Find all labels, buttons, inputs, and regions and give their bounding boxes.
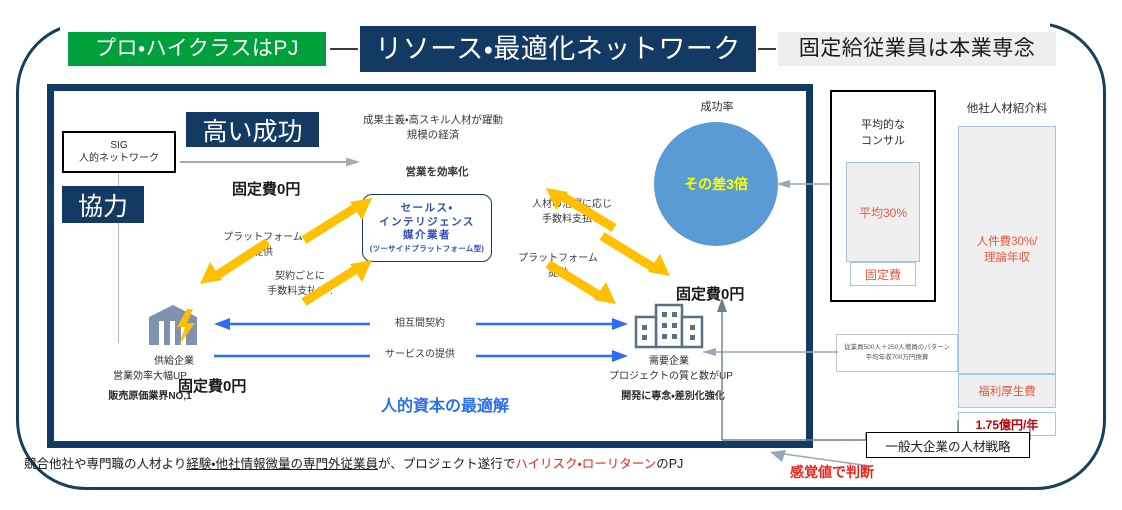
sig-label-line2: 人的ネットワーク <box>79 152 159 166</box>
label-service-provision: サービスの提供 <box>360 345 480 360</box>
supply-company-icon <box>143 303 203 349</box>
caption-underlined: 経験・他社情報微量の専門外従業員 <box>186 457 378 471</box>
gray-flow-arrow <box>180 157 360 167</box>
strategy-connector-rails <box>700 290 1060 450</box>
success-rate-circle: その差3倍 <box>654 122 778 246</box>
yellow-arrow-down-right-2 <box>542 256 622 306</box>
supply-company-name: 供給企業 <box>138 352 210 367</box>
demand-company-name: 需要企業 <box>636 352 702 367</box>
connector-consultant-to-circle <box>774 178 834 190</box>
intermediary-platform-box: セールス・ インテリジェンス 媒介業者 (ツーサイドプラットフォーム型) <box>362 194 492 262</box>
bottom-caption: 競合他社や専門職の人材より経験・他社情報微量の専門外従業員が、プロジェクト遂行で… <box>24 453 784 472</box>
consultant-rate-bar: 平均30% <box>846 162 920 262</box>
caption-part-1: 競合他社や専門職の人材より <box>24 457 186 471</box>
consultant-title: 平均的な コンサル <box>836 118 930 150</box>
mid-box-line1: セールス・ <box>400 202 453 216</box>
other-agency-bar-line1: 人件費30%/ <box>977 234 1038 250</box>
badge-high-success: 高い成功 <box>186 112 319 147</box>
diagram-canvas: プロ・ハイクラスはPJ リソース・最適化ネットワーク 固定給従業員は本業専念 S… <box>0 0 1122 510</box>
caption-highlight-red: ハイリスク・ローリターン <box>515 457 656 471</box>
supply-company-benefit-2: 販売原価業界NO,1 <box>88 387 212 402</box>
supply-company-benefit-1: 営業効率大幅UP <box>90 367 210 382</box>
mid-box-line2: インテリジェンス <box>379 216 475 230</box>
other-agency-title: 他社人材紹介料 <box>952 100 1062 116</box>
note-merit: 成果主義・高スキル人材が躍動 規模の経済 <box>338 113 528 143</box>
consultant-fixed-cost-box: 固定費 <box>850 262 916 286</box>
sig-label-line1: SIG <box>110 139 127 153</box>
header-connector-left <box>330 48 358 50</box>
consultant-title-line1: 平均的な <box>836 118 930 134</box>
yellow-arrow-up-right-2 <box>296 258 376 308</box>
yellow-arrow-down-left-1 <box>196 236 276 286</box>
header-badge-fixed-salary: 固定給従業員は本業専念 <box>778 32 1056 66</box>
note-sales-efficiency: 営業を効率化 <box>362 165 512 180</box>
label-fixed-cost-mid: 固定費0円 <box>232 178 300 199</box>
label-success-rate: 成功率 <box>672 98 762 114</box>
demand-company-icon <box>632 303 704 349</box>
label-optimal-human-capital: 人的資本の最適解 <box>340 392 550 416</box>
mid-box-line4: (ツーサイドプラットフォーム型) <box>370 244 484 254</box>
header-connector-right <box>758 48 776 50</box>
consultant-title-line2: コンサル <box>836 134 930 150</box>
note-merit-line1: 成果主義・高スキル人材が躍動 <box>338 113 528 128</box>
caption-part-2: が、プロジェクト遂行で <box>378 457 515 471</box>
yellow-arrow-up-right-1 <box>296 196 376 246</box>
strategy-label-box: 一般大企業の人材戦略 <box>866 432 1030 458</box>
label-mutual-contract: 相互間契約 <box>360 314 480 329</box>
header-badge-pro-highclass: プロ・ハイクラスはPJ <box>68 32 326 66</box>
other-agency-bar-line2: 理論年収 <box>977 250 1038 266</box>
judgement-label: 感覚値で判断 <box>790 462 940 482</box>
mid-box-line3: 媒介業者 <box>403 229 451 243</box>
caption-part-3: のPJ <box>656 457 683 471</box>
note-merit-line2: 規模の経済 <box>338 128 528 143</box>
sig-network-box: SIG 人的ネットワーク <box>62 131 176 173</box>
header-badge-resource-network: リソース・最適化ネットワーク <box>360 26 756 72</box>
badge-cooperation: 協力 <box>62 186 144 223</box>
